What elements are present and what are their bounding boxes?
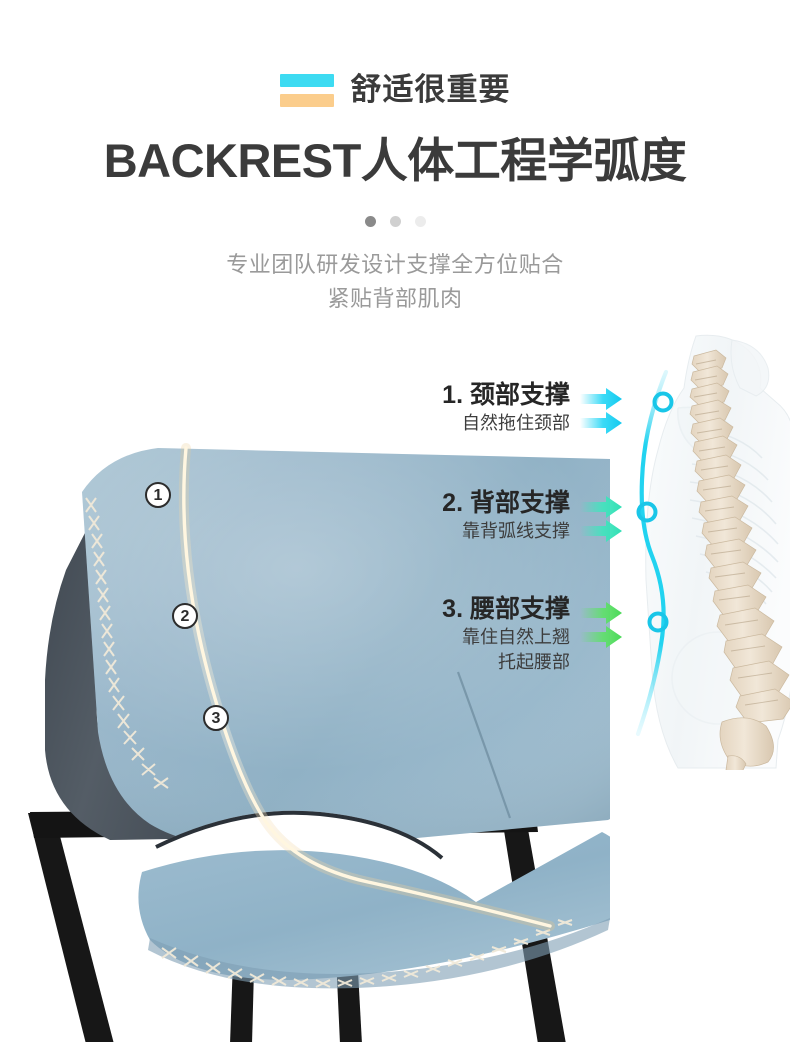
feature-item-3: 3. 腰部支撑 靠住自然上翘 托起腰部 [380,594,580,674]
dot-2-icon[interactable] [390,216,401,227]
feature-1-name: 颈部支撑 [470,381,570,409]
feature-1-index: 1. [442,381,463,409]
subtitle-line-1: 专业团队研发设计支撑全方位贴合 [0,248,790,282]
feature-1-title: 1. 颈部支撑 [380,380,580,411]
dot-3-icon[interactable] [415,216,426,227]
eyebrow-bars [280,74,334,107]
chair-marker-2: 2 [172,603,198,629]
feature-3-index: 3. [442,595,463,623]
dot-active-icon[interactable] [365,216,376,227]
feature-1-subtitle-line-1: 自然拖住颈部 [380,411,580,435]
subtitle-line-2: 紧贴背部肌肉 [0,282,790,316]
feature-3-title: 3. 腰部支撑 [380,594,580,625]
feature-2-title: 2. 背部支撑 [380,488,580,519]
bar-orange-icon [280,94,334,107]
feature-2-name: 背部支撑 [470,489,570,517]
chair-marker-1: 1 [145,482,171,508]
bar-cyan-icon [280,74,334,87]
chair-marker-3: 3 [203,705,229,731]
feature-item-1: 1. 颈部支撑 自然拖住颈部 [380,380,580,436]
feature-item-2: 2. 背部支撑 靠背弧线支撑 [380,488,580,544]
teal-arrows-back-icon [578,496,640,544]
product-detail-page: 舒适很重要 BACKREST人体工程学弧度 专业团队研发设计支撑全方位贴合 紧贴… [0,0,790,1042]
carousel-dots [0,216,790,227]
feature-2-subtitle-line-1: 靠背弧线支撑 [380,519,580,543]
green-arrows-waist-icon [578,602,640,650]
eyebrow-text: 舒适很重要 [351,74,511,105]
feature-3-subtitle-line-2: 托起腰部 [380,650,580,674]
cyan-arrows-neck-icon [578,388,640,436]
eyebrow-row: 舒适很重要 [0,72,790,107]
feature-2-index: 2. [442,489,463,517]
feature-3-name: 腰部支撑 [470,595,570,623]
subtitle: 专业团队研发设计支撑全方位贴合 紧贴背部肌肉 [0,248,790,316]
feature-3-subtitle-line-1: 靠住自然上翘 [380,625,580,649]
page-title: BACKREST人体工程学弧度 [0,134,790,188]
